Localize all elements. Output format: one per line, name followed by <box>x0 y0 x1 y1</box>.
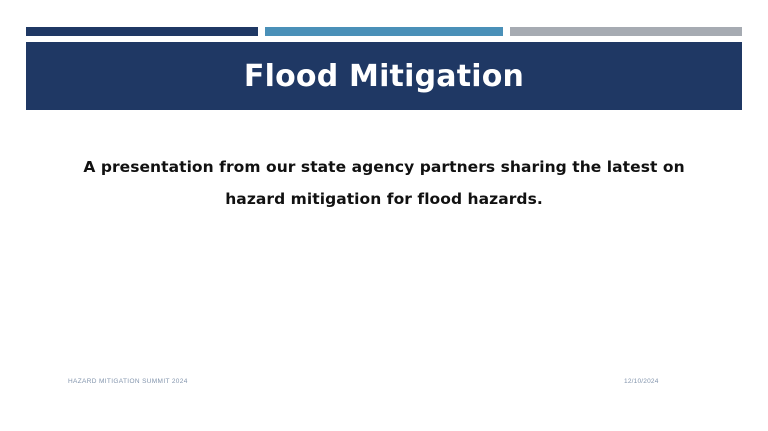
blue-accent-bar <box>265 27 503 36</box>
presentation-slide: Flood Mitigation A presentation from our… <box>0 0 768 431</box>
slide-body: A presentation from our state agency par… <box>64 152 704 216</box>
footer-date-label: 12/10/2024 <box>624 378 659 385</box>
accent-bar-row <box>26 27 742 36</box>
body-line-2: hazard mitigation for flood hazards. <box>64 184 704 216</box>
navy-accent-bar <box>26 27 258 36</box>
body-line-1: A presentation from our state agency par… <box>64 152 704 184</box>
slide-title: Flood Mitigation <box>244 60 524 93</box>
gray-accent-bar <box>510 27 742 36</box>
title-band: Flood Mitigation <box>26 42 742 110</box>
footer-event-label: HAZARD MITIGATION SUMMIT 2024 <box>68 378 188 385</box>
